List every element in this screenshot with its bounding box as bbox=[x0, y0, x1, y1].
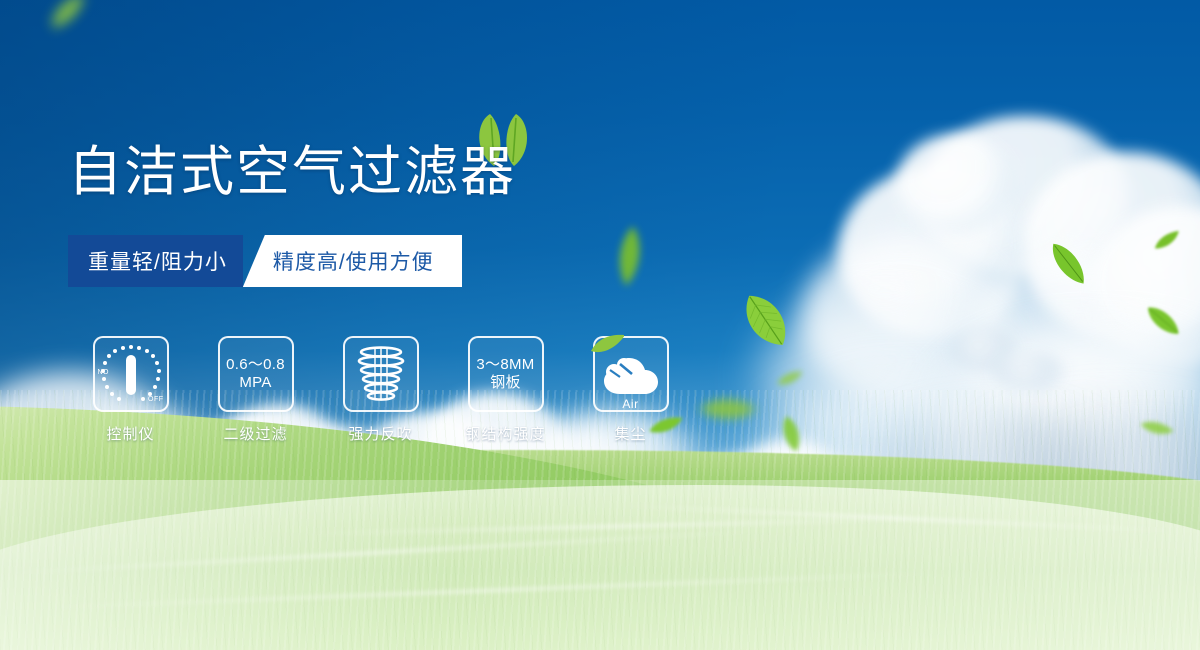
feature-item-control-dial[interactable]: NO OFF 控制仪 bbox=[68, 336, 193, 444]
air-label: Air bbox=[600, 397, 662, 411]
air-cloud-icon: Air bbox=[600, 350, 662, 398]
pressure-line-2: MPA bbox=[226, 374, 285, 392]
feature-icon-row: NO OFF 控制仪 0.6～0.8 MPA 二级过滤 bbox=[68, 336, 693, 444]
feature-box: 3～8MM 钢板 bbox=[468, 336, 544, 412]
feature-label: 强力反吹 bbox=[348, 423, 412, 444]
control-dial-icon: NO OFF bbox=[100, 343, 162, 405]
feature-item-two-stage-filter[interactable]: 0.6～0.8 MPA 二级过滤 bbox=[193, 336, 318, 444]
feature-item-dust-collection[interactable]: Air 集尘 bbox=[568, 336, 693, 444]
steel-line-2: 钢板 bbox=[476, 374, 534, 392]
product-hero-banner: 自洁式空气过滤器 重量轻/阻力小 精度高/使用方便 bbox=[0, 0, 1200, 650]
feature-box: 0.6～0.8 MPA bbox=[218, 336, 294, 412]
feature-label: 控制仪 bbox=[106, 423, 154, 444]
feature-item-back-blow[interactable]: 强力反吹 bbox=[318, 336, 443, 444]
pressure-text-icon: 0.6～0.8 MPA bbox=[226, 356, 285, 393]
page-title: 自洁式空气过滤器 bbox=[68, 143, 516, 202]
feature-box: NO OFF bbox=[93, 336, 169, 412]
feature-label: 集尘 bbox=[614, 423, 646, 444]
steel-line-1: 3～8MM bbox=[476, 356, 534, 374]
coil-filter-icon bbox=[352, 344, 410, 404]
subtitle-right-segment: 精度高/使用方便 bbox=[243, 235, 462, 287]
dial-off-label: OFF bbox=[148, 396, 164, 403]
dial-on-label: NO bbox=[98, 369, 110, 376]
pressure-line-1: 0.6～0.8 bbox=[226, 356, 285, 374]
subtitle-bar: 重量轻/阻力小 精度高/使用方便 bbox=[68, 235, 462, 287]
feature-label: 二级过滤 bbox=[223, 423, 287, 444]
feature-box bbox=[343, 336, 419, 412]
feature-label: 钢结构强度 bbox=[465, 423, 545, 444]
steel-plate-text-icon: 3～8MM 钢板 bbox=[476, 356, 534, 393]
feature-box: Air bbox=[593, 336, 669, 412]
feature-item-steel-strength[interactable]: 3～8MM 钢板 钢结构强度 bbox=[443, 336, 568, 444]
subtitle-left-segment: 重量轻/阻力小 bbox=[68, 235, 243, 287]
